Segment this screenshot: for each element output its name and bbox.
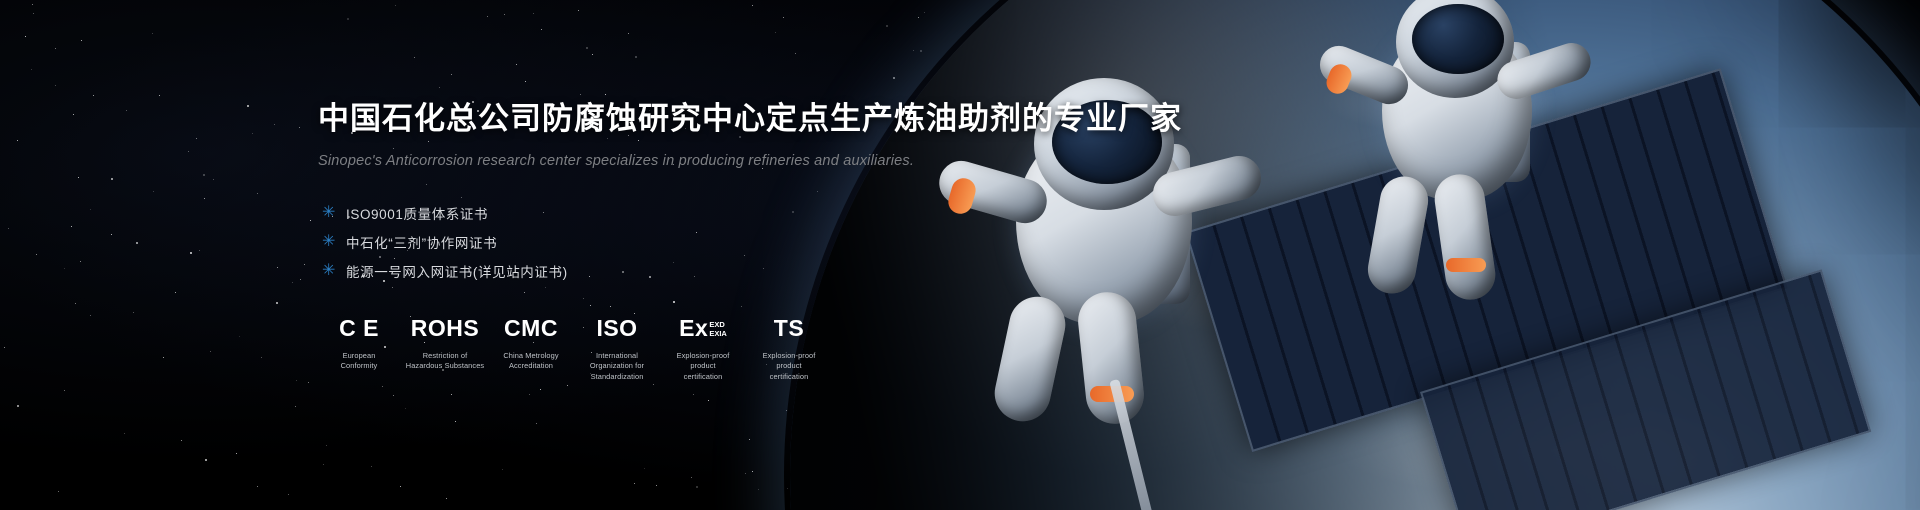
astronaut-far — [1300, 0, 1600, 320]
list-item[interactable]: ✳ 中石化“三剂”协作网证书 — [318, 228, 1118, 257]
star-speck — [111, 178, 113, 180]
star-speck — [152, 33, 153, 34]
star-speck — [628, 33, 629, 34]
star-speck — [292, 282, 293, 283]
star-speck — [758, 489, 759, 490]
star-speck — [400, 486, 401, 487]
badge-cmc: CMC China MetrologyAccreditation — [490, 316, 572, 372]
asterisk-icon: ✳ — [318, 234, 346, 250]
badge-mark: TS — [748, 316, 830, 344]
star-speck — [204, 198, 205, 199]
star-speck — [17, 405, 19, 407]
star-speck — [124, 433, 125, 434]
badge-rohs: ROHS Restriction ofHazardous Substances — [404, 316, 486, 372]
astronaut-far-leg-stripe — [1446, 258, 1486, 272]
certificate-list: ✳ ISO9001质量体系证书 ✳ 中石化“三剂”协作网证书 ✳ 能源一号网入网… — [318, 199, 1118, 286]
star-speck — [80, 261, 81, 262]
star-speck — [300, 279, 301, 280]
star-speck — [213, 179, 214, 180]
badge-mark: ROHS — [404, 316, 486, 344]
star-speck — [199, 250, 200, 251]
star-speck — [288, 494, 289, 495]
badge-caption: Explosion-proofproductcertification — [662, 351, 744, 383]
badge-mark-text: Ex — [679, 315, 708, 341]
badge-caption: InternationalOrganization forStandardiza… — [576, 351, 658, 383]
star-speck — [487, 16, 488, 17]
star-speck — [296, 380, 297, 381]
star-speck — [276, 302, 278, 304]
star-speck — [93, 95, 94, 96]
badge-mark: ISO — [576, 316, 658, 344]
asterisk-icon: ✳ — [318, 205, 346, 221]
badge-caption: Explosion-proofproductcertification — [748, 351, 830, 383]
star-speck — [261, 357, 262, 358]
hero-banner: 中国石化总公司防腐蚀研究中心定点生产炼油助剂的专业厂家 Sinopec's An… — [0, 0, 1920, 510]
badge-ce: C E EuropeanConformity — [318, 316, 400, 372]
star-speck — [586, 47, 588, 49]
list-item-label: 中石化“三剂”协作网证书 — [346, 232, 497, 252]
star-speck — [635, 56, 637, 58]
badge-ex: ExEXDEXIA Explosion-proofproductcertific… — [662, 316, 744, 383]
star-speck — [455, 421, 456, 422]
badge-mark-superscript: EXDEXIA — [709, 321, 727, 338]
star-speck — [4, 347, 5, 348]
star-speck — [55, 85, 56, 86]
badge-mark: C E — [318, 316, 400, 344]
badge-ts: TS Explosion-proofproductcertification — [748, 316, 830, 383]
star-speck — [32, 4, 33, 5]
star-speck — [55, 48, 56, 49]
star-speck — [541, 29, 542, 30]
star-speck — [749, 439, 750, 440]
star-speck — [525, 81, 526, 82]
star-speck — [247, 105, 249, 107]
banner-content: 中国石化总公司防腐蚀研究中心定点生产炼油助剂的专业厂家 Sinopec's An… — [318, 100, 1118, 383]
star-speck — [190, 252, 192, 254]
star-speck — [536, 423, 537, 424]
star-speck — [277, 267, 278, 268]
badge-caption: China MetrologyAccreditation — [490, 351, 572, 372]
star-speck — [126, 110, 127, 111]
star-speck — [17, 140, 18, 141]
certification-badges: C E EuropeanConformity ROHS Restriction … — [318, 316, 1118, 383]
star-speck — [75, 303, 76, 304]
list-item[interactable]: ✳ ISO9001质量体系证书 — [318, 199, 1118, 228]
star-speck — [239, 336, 240, 337]
badge-caption: Restriction ofHazardous Substances — [404, 351, 486, 372]
list-item-label: ISO9001质量体系证书 — [346, 203, 488, 223]
star-speck — [326, 445, 327, 446]
star-speck — [159, 95, 160, 96]
star-speck — [323, 464, 324, 465]
astronaut-far-leg-left — [1364, 173, 1432, 298]
star-speck — [136, 242, 138, 244]
page-title: 中国石化总公司防腐蚀研究中心定点生产炼油助剂的专业厂家 — [318, 100, 1118, 139]
star-speck — [752, 471, 753, 472]
star-speck — [783, 17, 784, 18]
astronaut-far-visor — [1412, 4, 1504, 74]
star-speck — [25, 36, 26, 37]
list-item[interactable]: ✳ 能源一号网入网证书(详见站内证书) — [318, 257, 1118, 286]
page-subtitle: Sinopec's Anticorrosion research center … — [318, 153, 1118, 169]
badge-iso: ISO InternationalOrganization forStandar… — [576, 316, 658, 383]
badge-mark: CMC — [490, 316, 572, 344]
star-speck — [304, 264, 305, 265]
list-item-label: 能源一号网入网证书(详见站内证书) — [346, 261, 568, 281]
badge-caption: EuropeanConformity — [318, 351, 400, 372]
star-speck — [605, 94, 606, 95]
asterisk-icon: ✳ — [318, 263, 346, 279]
star-speck — [188, 151, 189, 152]
star-speck — [696, 486, 698, 488]
star-speck — [203, 174, 205, 176]
star-speck — [8, 228, 9, 229]
star-speck — [33, 13, 34, 14]
star-speck — [71, 226, 72, 227]
badge-mark: ExEXDEXIA — [662, 316, 744, 344]
star-speck — [540, 389, 541, 390]
